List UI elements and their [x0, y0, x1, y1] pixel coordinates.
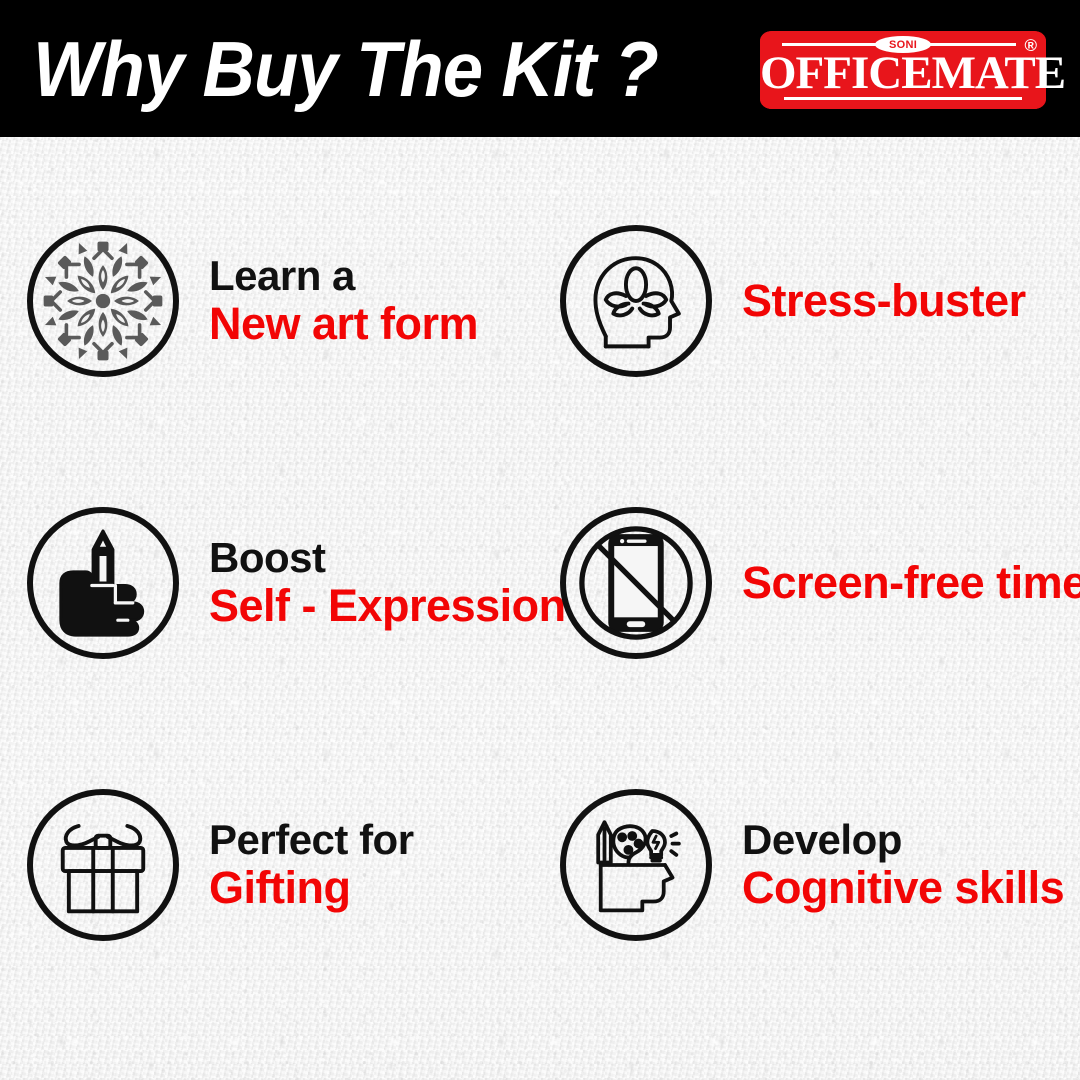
- logo-rule-right: [920, 43, 1016, 46]
- benefit-line-top: Boost: [209, 534, 566, 581]
- benefit-labels: Perfect for Gifting: [209, 816, 414, 913]
- benefit-line-top: Learn a: [209, 252, 478, 299]
- benefit-labels: Stress-buster: [742, 276, 1026, 326]
- page-title: Why Buy The Kit ?: [33, 30, 658, 108]
- head-lotus-icon: [560, 225, 712, 377]
- benefit-labels: Boost Self - Expression: [209, 534, 566, 631]
- benefit-labels: Learn a New art form: [209, 252, 478, 349]
- logo-underline: [784, 97, 1022, 100]
- gift-box-icon: [27, 789, 179, 941]
- benefit-line-bottom: Cognitive skills: [742, 863, 1064, 913]
- benefit-line-top: Perfect for: [209, 816, 414, 863]
- benefit-line-bottom: Self - Expression: [209, 581, 566, 631]
- logo-word-mate: MATE: [932, 47, 1066, 99]
- brand-logo: SONI ® OFFICEMATE: [760, 31, 1046, 109]
- benefit-line-top: Develop: [742, 816, 1064, 863]
- infographic-page: Why Buy The Kit ? SONI ® OFFICEMATE: [0, 0, 1080, 1080]
- benefit-line-bottom: Stress-buster: [742, 276, 1026, 326]
- benefit-line-bottom: Screen-free time: [742, 558, 1080, 608]
- benefit-item-gifting: Perfect for Gifting: [27, 789, 414, 941]
- mandala-flower-icon: [27, 225, 179, 377]
- logo-word-office: OFFICE: [760, 47, 932, 99]
- benefit-item-stress-buster: Stress-buster: [560, 225, 1026, 377]
- benefit-line-bottom: Gifting: [209, 863, 414, 913]
- benefits-grid: Learn a New art form: [0, 137, 1080, 1080]
- no-phone-icon: [560, 507, 712, 659]
- benefit-item-self-expression: Boost Self - Expression: [27, 507, 566, 659]
- benefit-item-screen-free-time: Screen-free time: [560, 507, 1080, 659]
- header-bar: Why Buy The Kit ? SONI ® OFFICEMATE: [0, 0, 1080, 137]
- head-creativity-icon: [560, 789, 712, 941]
- hand-holding-pencil-icon: [27, 507, 179, 659]
- benefit-item-new-art-form: Learn a New art form: [27, 225, 478, 377]
- benefit-item-cognitive-skills: Develop Cognitive skills: [560, 789, 1064, 941]
- logo-wordmark: OFFICEMATE: [760, 50, 1046, 97]
- benefit-labels: Screen-free time: [742, 558, 1080, 608]
- logo-soni-badge: SONI: [875, 36, 931, 53]
- benefit-line-bottom: New art form: [209, 299, 478, 349]
- benefit-labels: Develop Cognitive skills: [742, 816, 1064, 913]
- logo-rule-left: [782, 43, 878, 46]
